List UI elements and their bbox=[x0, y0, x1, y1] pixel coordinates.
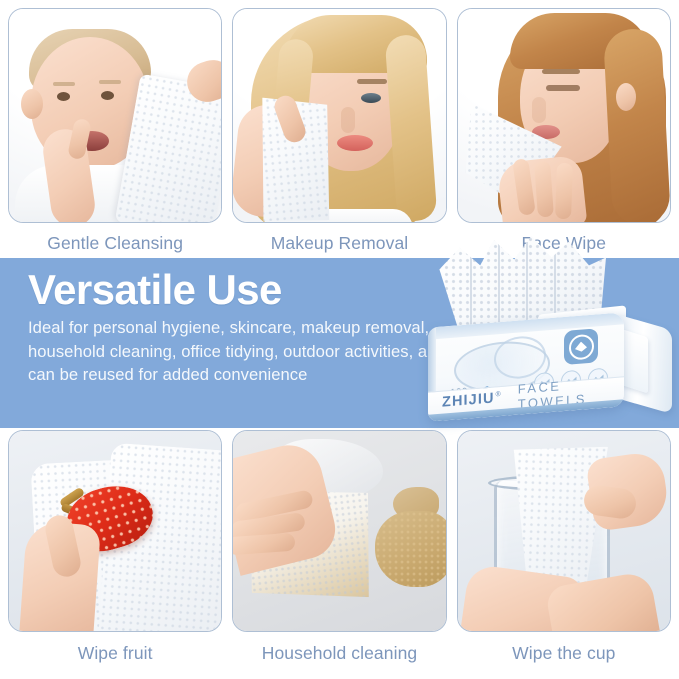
brand-text: ZHIJIU bbox=[442, 390, 495, 410]
leaf-eco-badge-icon bbox=[564, 328, 598, 365]
woman-nose bbox=[341, 107, 355, 133]
panel-wipe-fruit[interactable]: Wipe fruit bbox=[8, 430, 222, 671]
panel-face-wipe[interactable]: Face Wipe bbox=[457, 8, 671, 254]
panel-caption: Wipe the cup bbox=[457, 632, 671, 663]
panel-caption: Makeup Removal bbox=[232, 223, 446, 253]
woman-hair-side bbox=[603, 28, 671, 223]
product-package[interactable]: 100 ZHIJIU ® FACE TOWELS bbox=[418, 236, 679, 434]
package-front-face: 100 ZHIJIU ® FACE TOWELS bbox=[428, 312, 624, 421]
banner-description: Ideal for personal hygiene, skincare, ma… bbox=[28, 316, 448, 387]
top-panel-row: Gentle Cleansing Makeup Removal bbox=[0, 8, 679, 254]
photo-face-wipe[interactable] bbox=[457, 8, 671, 223]
photo-wipe-the-cup[interactable] bbox=[457, 430, 671, 632]
panel-caption: Wipe fruit bbox=[8, 632, 222, 663]
baby-eyebrow-left bbox=[53, 82, 75, 86]
photo-household-cleaning[interactable] bbox=[232, 430, 446, 632]
woman-finger bbox=[534, 161, 554, 218]
banner-title: Versatile Use bbox=[28, 268, 448, 312]
baby-eye-right bbox=[101, 91, 114, 100]
bottom-panel-row: Wipe fruit Household cleaning bbox=[0, 430, 679, 671]
photo-baby-cleansing[interactable] bbox=[8, 8, 222, 223]
photo-makeup-removal[interactable] bbox=[232, 8, 446, 223]
woman-eyebrow bbox=[357, 79, 387, 84]
woman-nose bbox=[532, 97, 546, 123]
woman-closed-eye bbox=[546, 85, 580, 91]
panel-caption: Household cleaning bbox=[232, 632, 446, 663]
product-infographic: Gentle Cleansing Makeup Removal bbox=[0, 0, 679, 679]
panel-caption: Gentle Cleansing bbox=[8, 223, 222, 253]
woman-finger bbox=[555, 163, 573, 220]
baby-eyebrow-right bbox=[99, 80, 121, 84]
panel-wipe-the-cup[interactable]: Wipe the cup bbox=[457, 430, 671, 671]
liquid-spill bbox=[375, 511, 446, 587]
panel-household-cleaning[interactable]: Household cleaning bbox=[232, 430, 446, 671]
brand-name: ZHIJIU ® bbox=[442, 389, 502, 410]
baby-ear bbox=[21, 89, 43, 119]
woman-eyebrow bbox=[542, 69, 580, 74]
panel-makeup-removal[interactable]: Makeup Removal bbox=[232, 8, 446, 254]
panel-gentle-cleansing[interactable]: Gentle Cleansing bbox=[8, 8, 222, 254]
registered-trademark-symbol: ® bbox=[496, 390, 502, 397]
baby-eye-left bbox=[57, 92, 70, 101]
photo-wipe-fruit[interactable] bbox=[8, 430, 222, 632]
woman-ear bbox=[616, 83, 636, 111]
banner-text-block: Versatile Use Ideal for personal hygiene… bbox=[28, 268, 448, 387]
